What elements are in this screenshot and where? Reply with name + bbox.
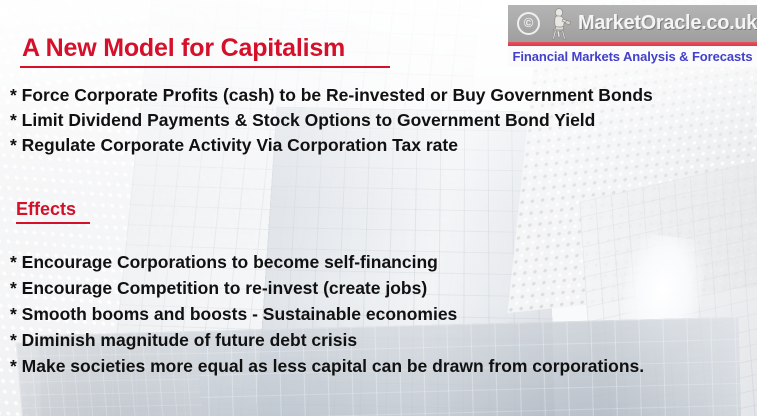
title-underline xyxy=(20,66,390,68)
list-item: * Regulate Corporate Activity Via Corpor… xyxy=(10,133,653,158)
seated-oracle-figure-icon xyxy=(546,7,576,40)
slide-canvas: A New Model for Capitalism * Force Corpo… xyxy=(0,0,757,416)
logo-banner: © xyxy=(508,5,757,42)
slide-title: A New Model for Capitalism xyxy=(22,34,345,63)
list-item: * Make societies more equal as less capi… xyxy=(10,353,644,379)
copyright-icon: © xyxy=(517,12,540,35)
slide-content: A New Model for Capitalism * Force Corpo… xyxy=(0,0,757,416)
section-heading-effects: Effects xyxy=(16,199,76,220)
list-item: * Diminish magnitude of future debt cris… xyxy=(10,327,644,353)
list-item: * Encourage Corporations to become self-… xyxy=(10,249,644,275)
logo-wordmark: MarketOracle.co.uk xyxy=(578,12,757,35)
proposals-list: * Force Corporate Profits (cash) to be R… xyxy=(10,83,653,158)
effects-list: * Encourage Corporations to become self-… xyxy=(10,249,644,379)
list-item: * Force Corporate Profits (cash) to be R… xyxy=(10,83,653,108)
list-item: * Encourage Competition to re-invest (cr… xyxy=(10,275,644,301)
section-heading-underline xyxy=(16,222,90,224)
list-item: * Smooth booms and boosts - Sustainable … xyxy=(10,301,644,327)
list-item: * Limit Dividend Payments & Stock Option… xyxy=(10,108,653,133)
logo-tagline: Financial Markets Analysis & Forecasts xyxy=(508,46,757,67)
marketoracle-logo[interactable]: © xyxy=(508,5,757,67)
